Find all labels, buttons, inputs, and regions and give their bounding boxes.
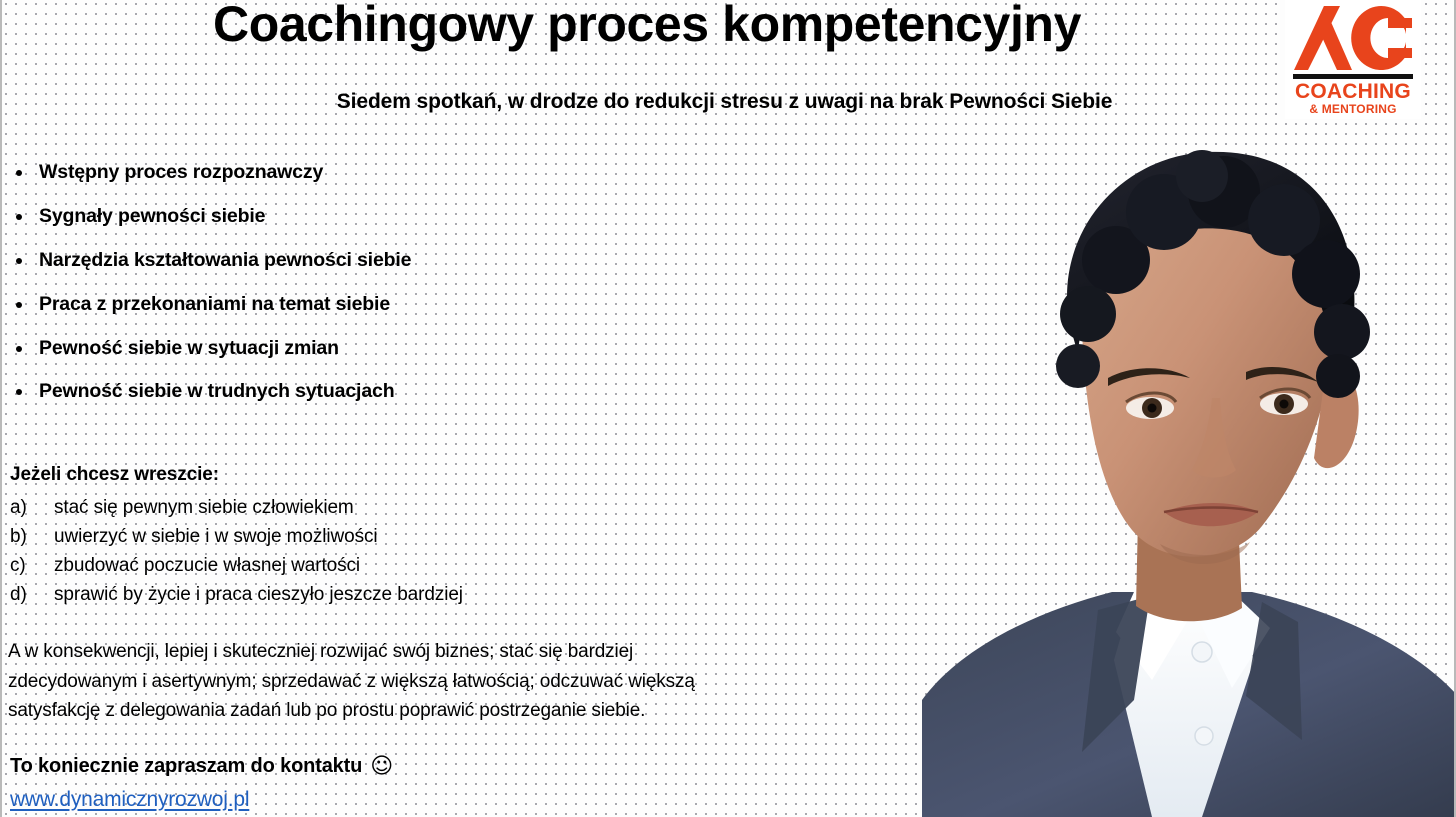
list-item-label: uwierzyć w siebie i w swoje możliwości: [54, 522, 378, 551]
list-item: d) sprawić by życie i praca cieszyło jes…: [10, 580, 463, 609]
list-item: c) zbudować poczucie własnej wartości: [10, 551, 463, 580]
list-item: Pewność siebie w sytuacji zmian: [10, 339, 890, 359]
list-item: a) stać się pewnym siebie człowiekiem: [10, 493, 463, 522]
page-subtitle: Siedem spotkań, w drodze do redukcji str…: [2, 90, 1447, 114]
list-item: Narzędzia kształtowania pewności siebie: [10, 251, 890, 271]
list-item-marker: c): [10, 551, 54, 580]
list-item-label: zbudować poczucie własnej wartości: [54, 551, 360, 580]
smiley-face-icon: ☺: [370, 756, 393, 778]
logo-divider: [1293, 74, 1413, 79]
list-item-marker: a): [10, 493, 54, 522]
list-item-marker: b): [10, 522, 54, 551]
paragraph-line: satysfakcję z delegowania zadań lub po p…: [8, 696, 838, 726]
list-item: Sygnały pewności siebie: [10, 207, 890, 227]
closing-text: To koniecznie zapraszam do kontaktu: [10, 755, 362, 778]
brand-logo: COACHING & MENTORING: [1285, 0, 1421, 119]
coach-portrait-photo: [902, 140, 1456, 817]
wish-heading: Jeżeli chcesz wreszcie:: [10, 464, 219, 486]
logo-coaching-text: COACHING: [1295, 81, 1411, 102]
list-item-label: sprawić by życie i praca cieszyło jeszcz…: [54, 580, 463, 609]
list-item: Praca z przekonaniami na temat siebie: [10, 295, 890, 315]
closing-call-to-action: To koniecznie zapraszam do kontaktu ☺: [10, 755, 393, 778]
list-item-label: stać się pewnym siebie człowiekiem: [54, 493, 354, 522]
paragraph-line: zdecydowanym i asertywnym; sprzedawać z …: [8, 667, 838, 697]
agenda-bullet-list: Wstępny proces rozpoznawczy Sygnały pewn…: [10, 163, 890, 426]
presentation-slide: Coachingowy proces kompetencyjny Siedem …: [0, 0, 1456, 817]
logo-mentoring-text: & MENTORING: [1309, 102, 1396, 118]
website-link[interactable]: www.dynamicznyrozwoj.pl: [10, 788, 249, 812]
paragraph-line: A w konsekwencji, lepiej i skuteczniej r…: [8, 637, 838, 667]
ac-monogram-icon: [1294, 4, 1412, 72]
list-item-marker: d): [10, 580, 54, 609]
list-item: Wstępny proces rozpoznawczy: [10, 163, 890, 183]
page-title: Coachingowy proces kompetencyjny: [2, 0, 1292, 51]
list-item: b) uwierzyć w siebie i w swoje możliwośc…: [10, 522, 463, 551]
wish-lettered-list: a) stać się pewnym siebie człowiekiem b)…: [10, 493, 463, 609]
list-item: Pewność siebie w trudnych sytuacjach: [10, 382, 890, 402]
consequence-paragraph: A w konsekwencji, lepiej i skuteczniej r…: [8, 637, 838, 726]
